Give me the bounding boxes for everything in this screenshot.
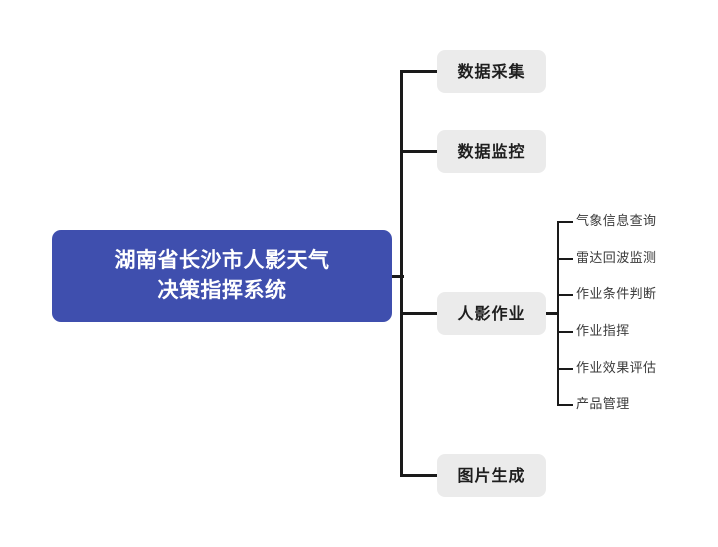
level1-node-weather-modification[interactable]: 人影作业 <box>437 292 546 335</box>
level1-node-label: 图片生成 <box>457 468 525 484</box>
connector-leaf-stub-1 <box>557 221 573 223</box>
leaf-node-weather-info-query[interactable]: 气象信息查询 <box>576 215 656 228</box>
root-node[interactable]: 湖南省长沙市人影天气 决策指挥系统 <box>52 230 392 322</box>
connector-leaf-stub-6 <box>557 404 573 406</box>
level1-node-label: 人影作业 <box>457 306 525 322</box>
level1-node-data-monitoring[interactable]: 数据监控 <box>437 130 546 173</box>
level1-node-label: 数据监控 <box>457 144 525 160</box>
connector-main-trunk <box>400 70 403 477</box>
level1-node-label: 数据采集 <box>457 64 525 80</box>
level1-node-data-collection[interactable]: 数据采集 <box>437 50 546 93</box>
leaf-node-operation-command[interactable]: 作业指挥 <box>576 325 630 338</box>
connector-leaf-spine <box>557 221 559 406</box>
connector-trunk-to-level1-2 <box>400 150 438 153</box>
leaf-node-product-management[interactable]: 产品管理 <box>576 398 630 411</box>
root-node-label: 湖南省长沙市人影天气 决策指挥系统 <box>115 246 330 306</box>
mindmap-canvas: 湖南省长沙市人影天气 决策指挥系统 数据采集 数据监控 人影作业 图片生成 气象… <box>0 0 718 547</box>
level1-node-image-generation[interactable]: 图片生成 <box>437 454 546 497</box>
leaf-node-operation-condition-judgment[interactable]: 作业条件判断 <box>576 288 656 301</box>
leaf-node-operation-effect-evaluation[interactable]: 作业效果评估 <box>576 362 656 375</box>
connector-leaf-stub-5 <box>557 368 573 370</box>
connector-trunk-to-level1-1 <box>400 70 438 73</box>
connector-trunk-to-level1-3 <box>400 312 438 315</box>
leaf-node-radar-echo-monitoring[interactable]: 雷达回波监测 <box>576 252 656 265</box>
connector-leaf-stub-2 <box>557 258 573 260</box>
connector-trunk-to-level1-4 <box>400 474 438 477</box>
connector-leaf-stub-3 <box>557 294 573 296</box>
connector-leaf-stub-4 <box>557 331 573 333</box>
